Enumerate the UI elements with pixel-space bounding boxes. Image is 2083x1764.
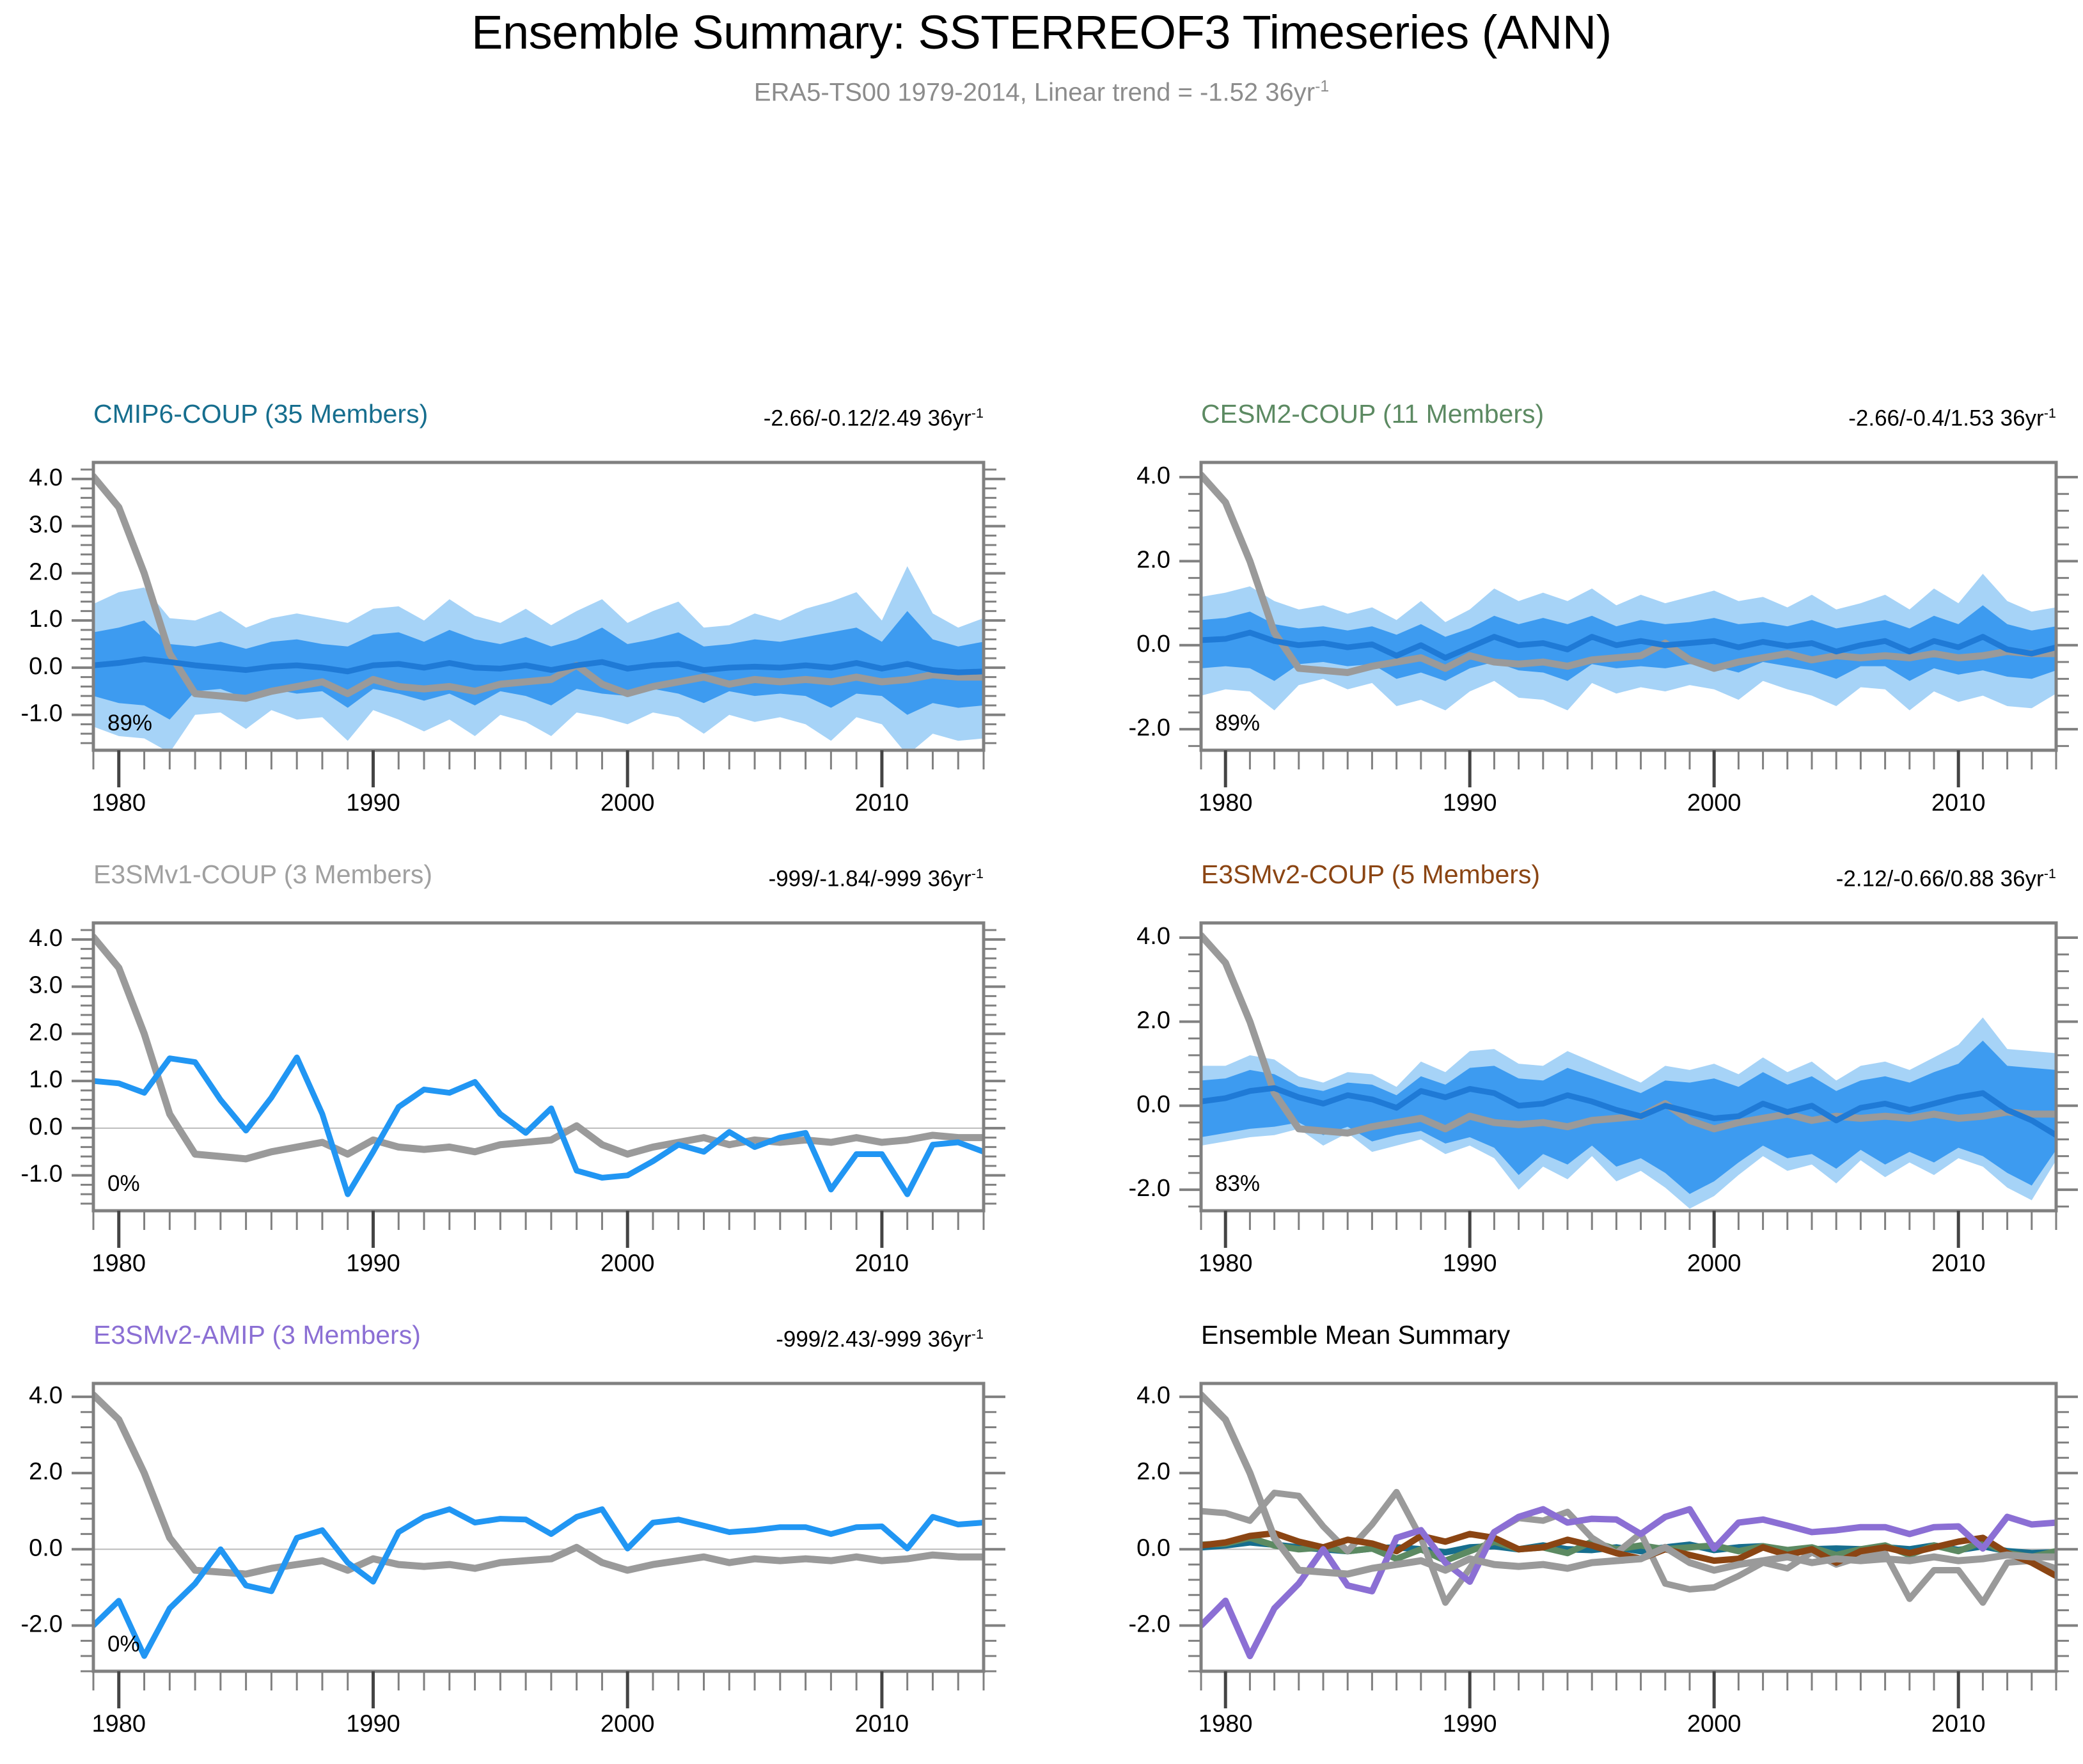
x-axis-tick-label: 1990	[1443, 1250, 1497, 1277]
ensemble-mean-line	[93, 1057, 984, 1194]
y-axis-tick-label: 1.0	[29, 606, 63, 633]
coverage-percent-e3smv1-coup: 0%	[107, 1172, 140, 1195]
plot-e3smv2-coup: -2.00.02.04.01980199020002010	[1118, 853, 2074, 1281]
x-axis-tick-label: 1980	[91, 1250, 146, 1277]
x-axis-tick-label: 1990	[1443, 789, 1497, 816]
y-axis-tick-label: 2.0	[1136, 1458, 1170, 1485]
y-axis-tick-label: 0.0	[29, 653, 63, 680]
y-axis-tick-label: 0.0	[29, 1534, 63, 1561]
observation-line	[93, 1395, 984, 1574]
figure-subtitle-exponent: -1	[1315, 78, 1329, 95]
y-axis-tick-label: 0.0	[29, 1114, 63, 1140]
x-axis-tick-label: 2010	[1931, 789, 1986, 816]
plot-e3smv1-coup: -1.00.01.02.03.04.01980199020002010	[10, 853, 1002, 1281]
panel-cesm2-coup: CESM2-COUP (11 Members)-2.66/-0.4/1.53 3…	[1118, 392, 2074, 821]
coverage-percent-e3smv2-amip: 0%	[107, 1633, 140, 1655]
figure-subtitle: ERA5-TS00 1979-2014, Linear trend = -1.5…	[0, 78, 2083, 107]
y-axis-tick-label: -2.0	[21, 1611, 63, 1638]
x-axis-tick-label: 1980	[1199, 1250, 1253, 1277]
y-axis-tick-label: 2.0	[1136, 1007, 1170, 1034]
x-axis-tick-label: 1990	[346, 789, 400, 816]
y-axis-tick-label: 3.0	[29, 512, 63, 539]
observation-line	[93, 937, 984, 1159]
coverage-percent-cesm2-coup: 89%	[1215, 712, 1260, 734]
figure-root: Ensemble Summary: SSTERREOF3 Timeseries …	[0, 0, 2083, 1764]
x-axis-tick-label: 1990	[346, 1250, 400, 1277]
y-axis-tick-label: 2.0	[29, 1458, 63, 1485]
figure-title: Ensemble Summary: SSTERREOF3 Timeseries …	[0, 5, 2083, 59]
y-axis-tick-label: 0.0	[1136, 631, 1170, 658]
plot-e3smv2-amip: -2.00.02.04.01980199020002010	[10, 1313, 1002, 1742]
x-axis-tick-label: 2000	[601, 789, 655, 816]
figure-subtitle-text: ERA5-TS00 1979-2014, Linear trend = -1.5…	[754, 78, 1315, 106]
x-axis-tick-label: 1990	[1443, 1710, 1497, 1737]
y-axis-tick-label: -2.0	[1129, 1175, 1170, 1202]
x-axis-tick-label: 2000	[601, 1710, 655, 1737]
x-axis-tick-label: 2010	[855, 1710, 909, 1737]
y-axis-tick-label: 1.0	[29, 1066, 63, 1093]
y-axis-tick-label: 0.0	[1136, 1091, 1170, 1118]
x-axis-tick-label: 1980	[1199, 1710, 1253, 1737]
plot-ensemble-mean-summary: -2.00.02.04.01980199020002010	[1118, 1313, 2074, 1742]
x-axis-tick-label: 1980	[91, 789, 146, 816]
y-axis-tick-label: -1.0	[21, 700, 63, 727]
x-axis-tick-label: 1990	[346, 1710, 400, 1737]
plot-cesm2-coup: -2.00.02.04.01980199020002010	[1118, 392, 2074, 821]
panel-e3smv2-coup: E3SMv2-COUP (5 Members)-2.12/-0.66/0.88 …	[1118, 853, 2074, 1281]
y-axis-tick-label: 4.0	[29, 464, 63, 491]
y-axis-tick-label: 3.0	[29, 972, 63, 999]
x-axis-tick-label: 2000	[1687, 1710, 1741, 1737]
y-axis-tick-label: -1.0	[21, 1161, 63, 1188]
x-axis-tick-label: 2000	[1687, 1250, 1741, 1277]
coverage-percent-e3smv2-coup: 83%	[1215, 1172, 1260, 1195]
y-axis-tick-label: 4.0	[29, 1382, 63, 1409]
x-axis-tick-label: 2010	[855, 1250, 909, 1277]
panel-cmip6-coup: CMIP6-COUP (35 Members)-2.66/-0.12/2.49 …	[10, 392, 1002, 821]
x-axis-tick-label: 2000	[601, 1250, 655, 1277]
y-axis-tick-label: 2.0	[29, 1019, 63, 1046]
y-axis-tick-label: 4.0	[1136, 1382, 1170, 1409]
y-axis-tick-label: 2.0	[1136, 546, 1170, 573]
y-axis-tick-label: 4.0	[1136, 462, 1170, 489]
x-axis-tick-label: 2010	[1931, 1250, 1986, 1277]
y-axis-tick-label: -2.0	[1129, 1611, 1170, 1638]
x-axis-tick-label: 2000	[1687, 789, 1741, 816]
y-axis-tick-label: -2.0	[1129, 714, 1170, 741]
ensemble-mean-line	[93, 1509, 984, 1656]
y-axis-tick-label: 2.0	[29, 558, 63, 585]
panel-ensemble-mean-summary: Ensemble Mean Summary-2.00.02.04.0198019…	[1118, 1313, 2074, 1742]
x-axis-tick-label: 1980	[1199, 789, 1253, 816]
y-axis-tick-label: 0.0	[1136, 1534, 1170, 1561]
panel-e3smv1-coup: E3SMv1-COUP (3 Members)-999/-1.84/-999 3…	[10, 853, 1002, 1281]
y-axis-tick-label: 4.0	[29, 925, 63, 952]
x-axis-tick-label: 1980	[91, 1710, 146, 1737]
panel-e3smv2-amip: E3SMv2-AMIP (3 Members)-999/2.43/-999 36…	[10, 1313, 1002, 1742]
y-axis-tick-label: 4.0	[1136, 923, 1170, 950]
coverage-percent-cmip6-coup: 89%	[107, 712, 152, 734]
plot-cmip6-coup: -1.00.01.02.03.04.01980199020002010	[10, 392, 1002, 821]
x-axis-tick-label: 2010	[1931, 1710, 1986, 1737]
x-axis-tick-label: 2010	[855, 789, 909, 816]
